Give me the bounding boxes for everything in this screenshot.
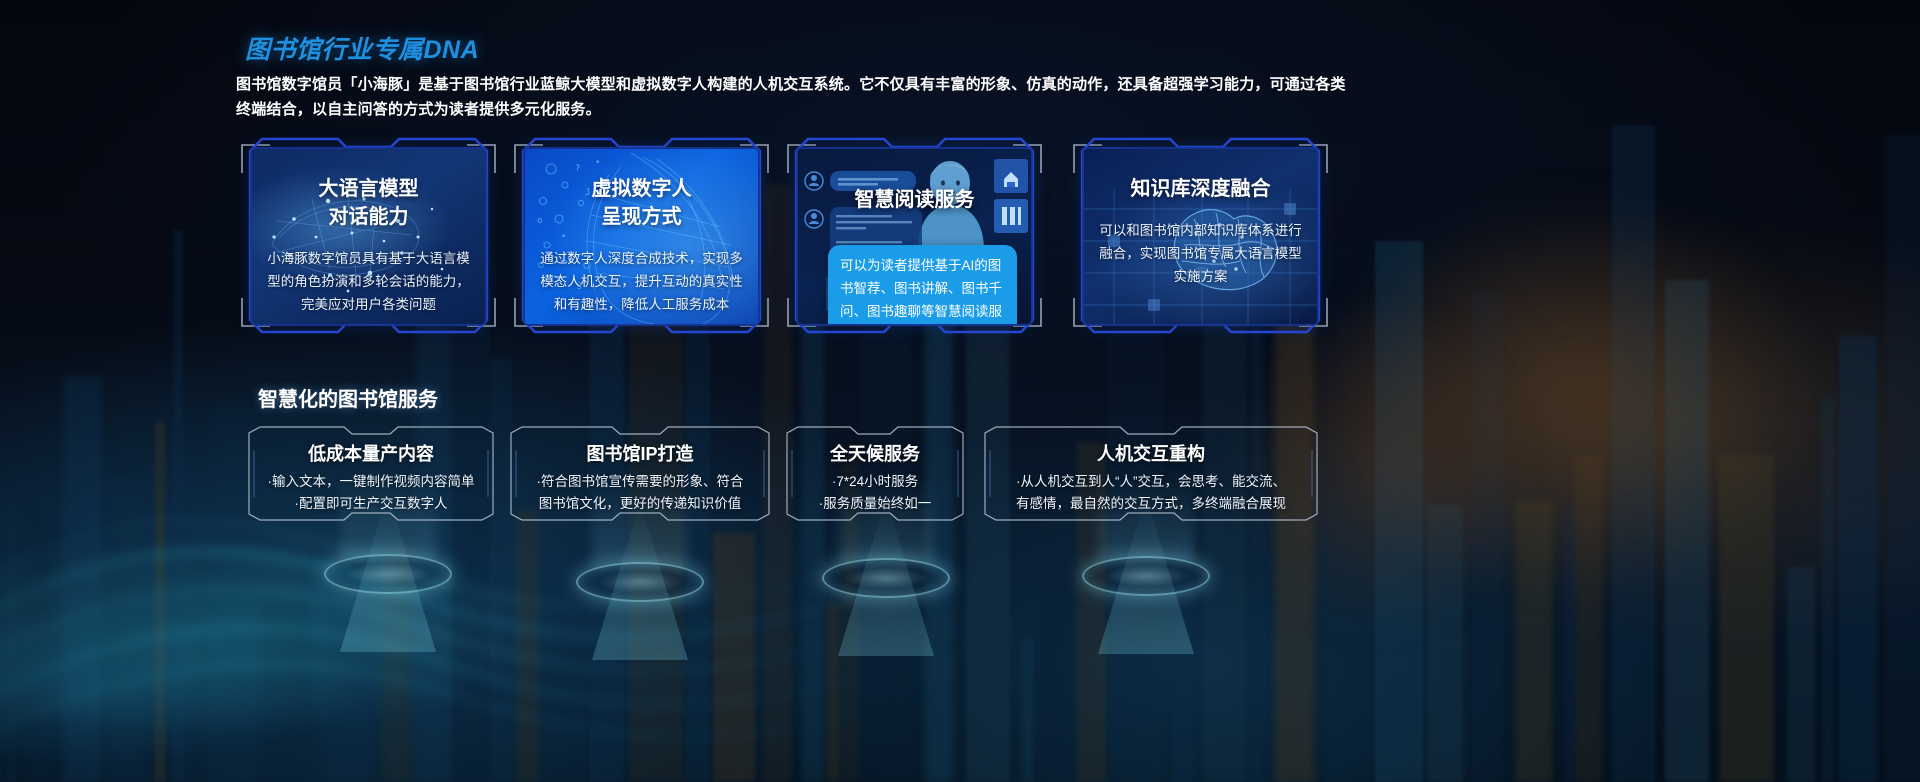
card-body: 可以为读者提供基于AI的图书智荐、图书讲解、图书千问、图书趣聊等智慧阅读服务 xyxy=(840,254,1005,324)
bullet-line: ·符合图书馆宣传需要的形象、符合 xyxy=(537,471,744,493)
feature-card-virtual-digital-human[interactable]: ?J •J o• 虚拟数字人呈现方式 通过数字人深度合成技术，实现多模态人机交互… xyxy=(513,133,770,338)
service-card-bullets: ·符合图书馆宣传需要的形象、符合 图书馆文化，更好的传递知识价值 xyxy=(537,471,744,515)
services-heading: 智慧化的图书馆服务 xyxy=(258,383,438,412)
service-card-body: 低成本量产内容 ·输入文本，一键制作视频内容简单 ·配置即可生产交互数字人 xyxy=(258,434,484,515)
service-card-title: 低成本量产内容 xyxy=(308,442,434,466)
feature-card-knowledge-base-fusion[interactable]: 知识库深度融合 可以和图书馆内部知识库体系进行融合，实现图书馆专属大语言模型实施… xyxy=(1072,133,1329,338)
service-card-body: 全天候服务 ·7*24小时服务 ·服务质量始终如一 xyxy=(796,434,954,515)
card-title: 虚拟数字人呈现方式 xyxy=(592,175,692,231)
card-title: 知识库深度融合 xyxy=(1131,175,1271,203)
service-card-body: 图书馆IP打造 ·符合图书馆宣传需要的形象、符合 图书馆文化，更好的传递知识价值 xyxy=(520,434,760,515)
service-card-24h-service[interactable]: 全天候服务 ·7*24小时服务 ·服务质量始终如一 xyxy=(786,426,964,521)
service-card-library-ip[interactable]: 图书馆IP打造 ·符合图书馆宣传需要的形象、符合 图书馆文化，更好的传递知识价值 xyxy=(510,426,770,521)
bullet-line: ·输入文本，一键制作视频内容简单 xyxy=(268,471,475,493)
card-inner: 大语言模型对话能力 小海豚数字馆员具有基于大语言模型的角色扮演和多轮会话的能力，… xyxy=(252,149,485,324)
card-inner: 知识库深度融合 可以和图书馆内部知识库体系进行融合，实现图书馆专属大语言模型实施… xyxy=(1084,149,1317,324)
service-card-title: 图书馆IP打造 xyxy=(586,442,693,466)
card-text: 虚拟数字人呈现方式 通过数字人深度合成技术，实现多模态人机交互，提升互动的真实性… xyxy=(525,149,758,324)
card-text: 大语言模型对话能力 小海豚数字馆员具有基于大语言模型的角色扮演和多轮会话的能力，… xyxy=(252,149,485,324)
card-body: 小海豚数字馆员具有基于大语言模型的角色扮演和多轮会话的能力，完美应对用户各类问题 xyxy=(266,247,471,316)
page-title: 图书馆行业专属DNA xyxy=(245,30,479,66)
card-title: 智慧阅读服务 xyxy=(798,183,1031,212)
service-card-body: 人机交互重构 ·从人机交互到人“人”交互，会思考、能交流、 有感情，最自然的交互… xyxy=(994,434,1308,515)
service-card-bullets: ·7*24小时服务 ·服务质量始终如一 xyxy=(819,471,932,515)
card-body: 通过数字人深度合成技术，实现多模态人机交互，提升互动的真实性和有趣性，降低人工服… xyxy=(539,247,744,316)
card-body: 可以和图书馆内部知识库体系进行融合，实现图书馆专属大语言模型实施方案 xyxy=(1098,219,1303,288)
bullet-line: ·服务质量始终如一 xyxy=(819,493,932,515)
page-content: 图书馆行业专属DNA 图书馆数字馆员「小海豚」是基于图书馆行业蓝鲸大模型和虚拟数… xyxy=(0,0,1920,782)
card-text: 知识库深度融合 可以和图书馆内部知识库体系进行融合，实现图书馆专属大语言模型实施… xyxy=(1084,149,1317,324)
service-card-low-cost-content[interactable]: 低成本量产内容 ·输入文本，一键制作视频内容简单 ·配置即可生产交互数字人 xyxy=(248,426,494,521)
service-card-title: 全天候服务 xyxy=(830,442,920,466)
service-card-human-machine-interaction[interactable]: 人机交互重构 ·从人机交互到人“人”交互，会思考、能交流、 有感情，最自然的交互… xyxy=(984,426,1318,521)
card-inner: ?J •J o• 虚拟数字人呈现方式 通过数字人深度合成技术，实现多模态人机交互… xyxy=(525,149,758,324)
bullet-line: 图书馆文化，更好的传递知识价值 xyxy=(537,493,744,515)
bullet-line: ·配置即可生产交互数字人 xyxy=(268,493,475,515)
feature-card-smart-reading-service[interactable]: 智慧阅读服务 可以为读者提供基于AI的图书智荐、图书讲解、图书千问、图书趣聊等智… xyxy=(786,133,1043,338)
card-inner: 智慧阅读服务 可以为读者提供基于AI的图书智荐、图书讲解、图书千问、图书趣聊等智… xyxy=(798,149,1031,324)
card-title: 大语言模型对话能力 xyxy=(319,175,419,231)
chat-bubble: 可以为读者提供基于AI的图书智荐、图书讲解、图书千问、图书趣聊等智慧阅读服务 xyxy=(828,245,1017,324)
bullet-line: ·7*24小时服务 xyxy=(819,471,932,493)
bullet-line: ·从人机交互到人“人”交互，会思考、能交流、 xyxy=(1016,471,1286,493)
service-card-title: 人机交互重构 xyxy=(1097,442,1205,466)
service-card-bullets: ·输入文本，一键制作视频内容简单 ·配置即可生产交互数字人 xyxy=(268,471,475,515)
bullet-line: 有感情，最自然的交互方式，多终端融合展现 xyxy=(1016,493,1286,515)
service-card-bullets: ·从人机交互到人“人”交互，会思考、能交流、 有感情，最自然的交互方式，多终端融… xyxy=(1016,471,1286,515)
card-text: 智慧阅读服务 可以为读者提供基于AI的图书智荐、图书讲解、图书千问、图书趣聊等智… xyxy=(798,149,1031,324)
feature-card-large-language-model[interactable]: 大语言模型对话能力 小海豚数字馆员具有基于大语言模型的角色扮演和多轮会话的能力，… xyxy=(240,133,497,338)
page-intro-paragraph: 图书馆数字馆员「小海豚」是基于图书馆行业蓝鲸大模型和虚拟数字人构建的人机交互系统… xyxy=(236,72,1350,122)
